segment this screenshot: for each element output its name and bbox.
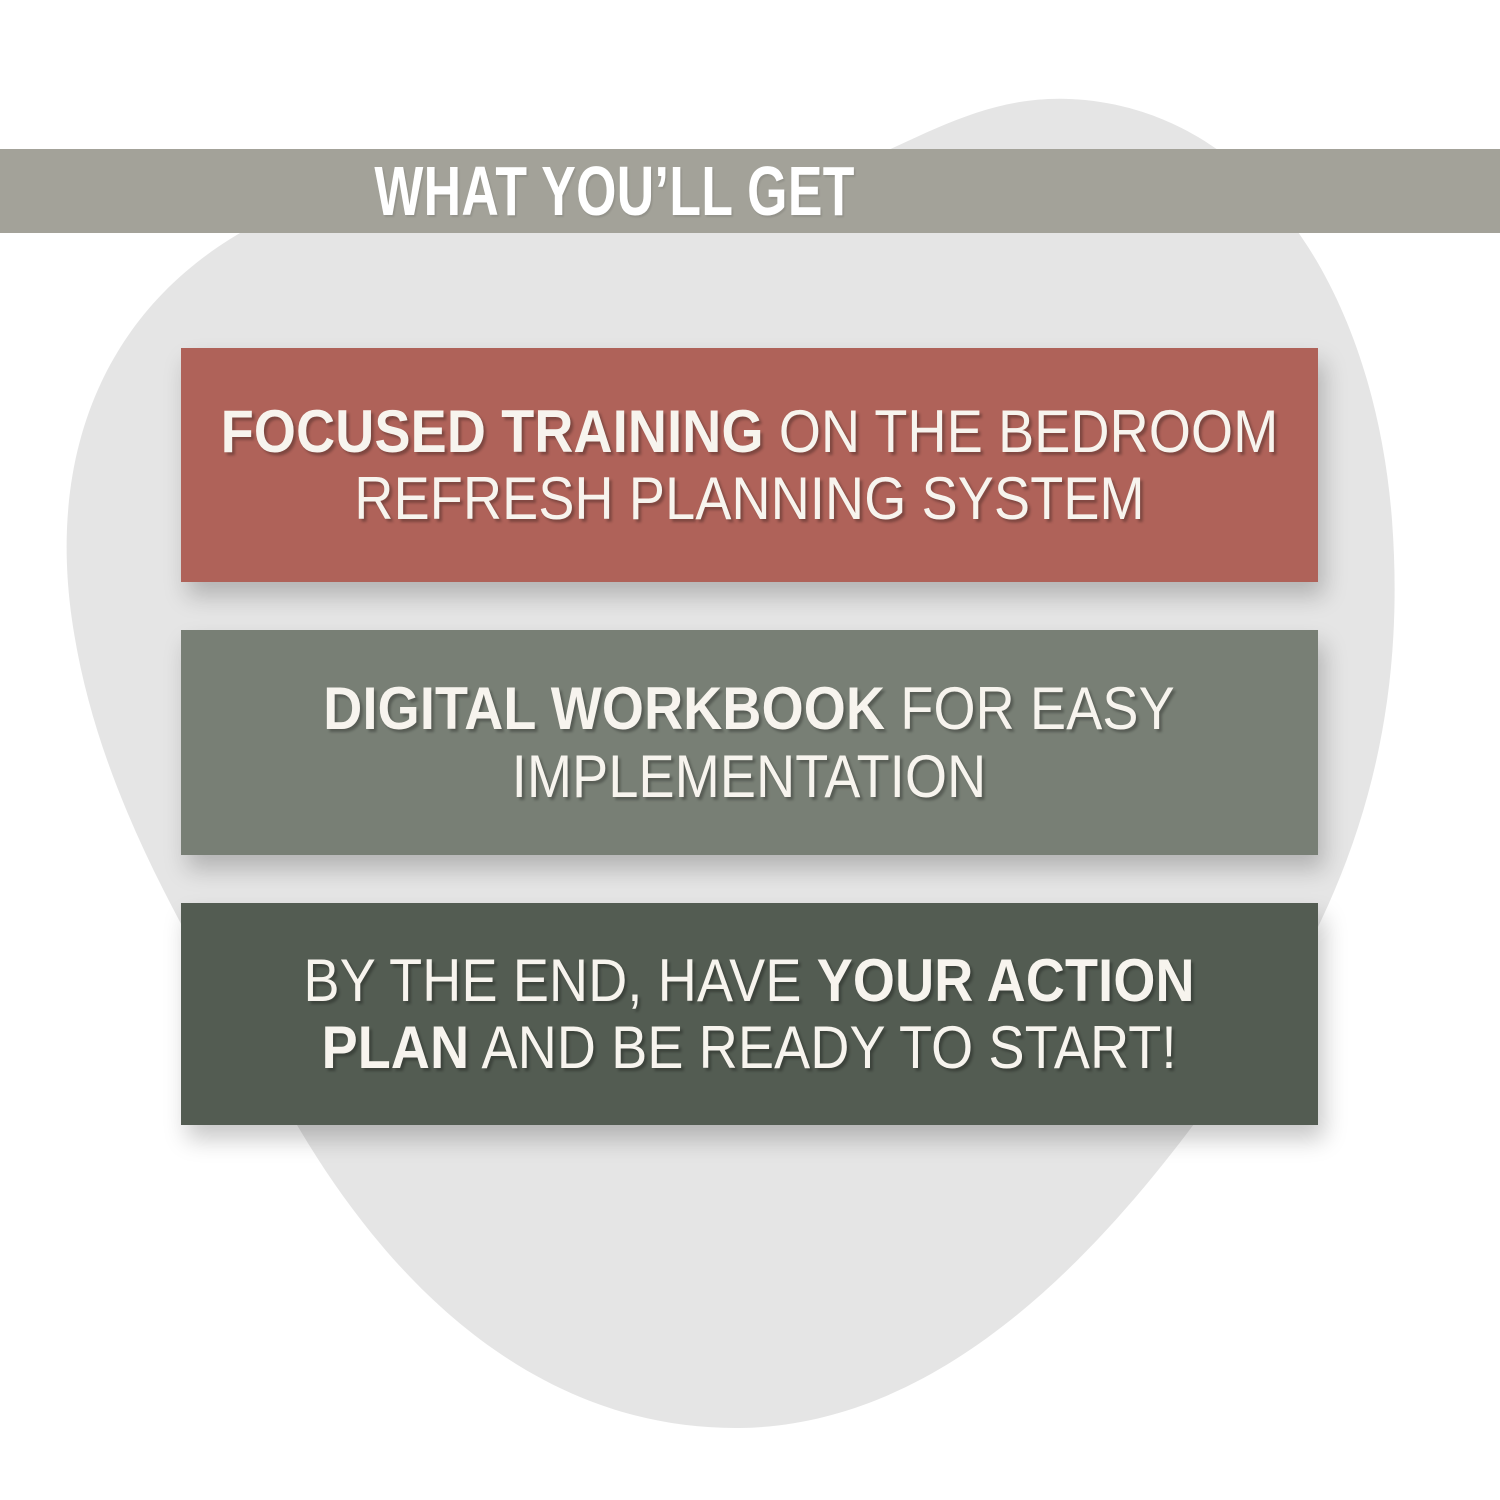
benefit-text-line2: IMPLEMENTATION [324, 743, 1176, 810]
benefit-card-text: FOCUSED TRAINING ON THE BEDROOM REFRESH … [221, 398, 1279, 532]
page-title: WHAT YOU’LL GET [375, 156, 855, 226]
benefit-text-rest: FOR EASY [886, 675, 1176, 742]
benefit-card-digital-workbook: DIGITAL WORKBOOK FOR EASY IMPLEMENTATION [181, 630, 1318, 855]
benefit-text-rest: AND BE READY TO START! [470, 1014, 1177, 1081]
benefit-card-action-plan: BY THE END, HAVE YOUR ACTION PLAN AND BE… [181, 903, 1318, 1125]
header-band: WHAT YOU’LL GET [0, 149, 1500, 233]
benefit-card-text: BY THE END, HAVE YOUR ACTION PLAN AND BE… [304, 947, 1195, 1081]
benefit-highlight: YOUR ACTION [817, 947, 1195, 1014]
benefit-card-focused-training: FOCUSED TRAINING ON THE BEDROOM REFRESH … [181, 348, 1318, 582]
benefit-text-rest: ON THE BEDROOM [764, 398, 1279, 465]
benefit-text-line2: REFRESH PLANNING SYSTEM [221, 465, 1279, 532]
benefit-highlight: DIGITAL WORKBOOK [324, 675, 886, 742]
promo-graphic: WHAT YOU’LL GET FOCUSED TRAINING ON THE … [0, 0, 1500, 1500]
benefit-text-pre: BY THE END, HAVE [304, 947, 817, 1014]
benefit-highlight-2: PLAN [322, 1014, 470, 1081]
benefit-highlight: FOCUSED TRAINING [221, 398, 764, 465]
benefit-card-text: DIGITAL WORKBOOK FOR EASY IMPLEMENTATION [324, 675, 1176, 809]
